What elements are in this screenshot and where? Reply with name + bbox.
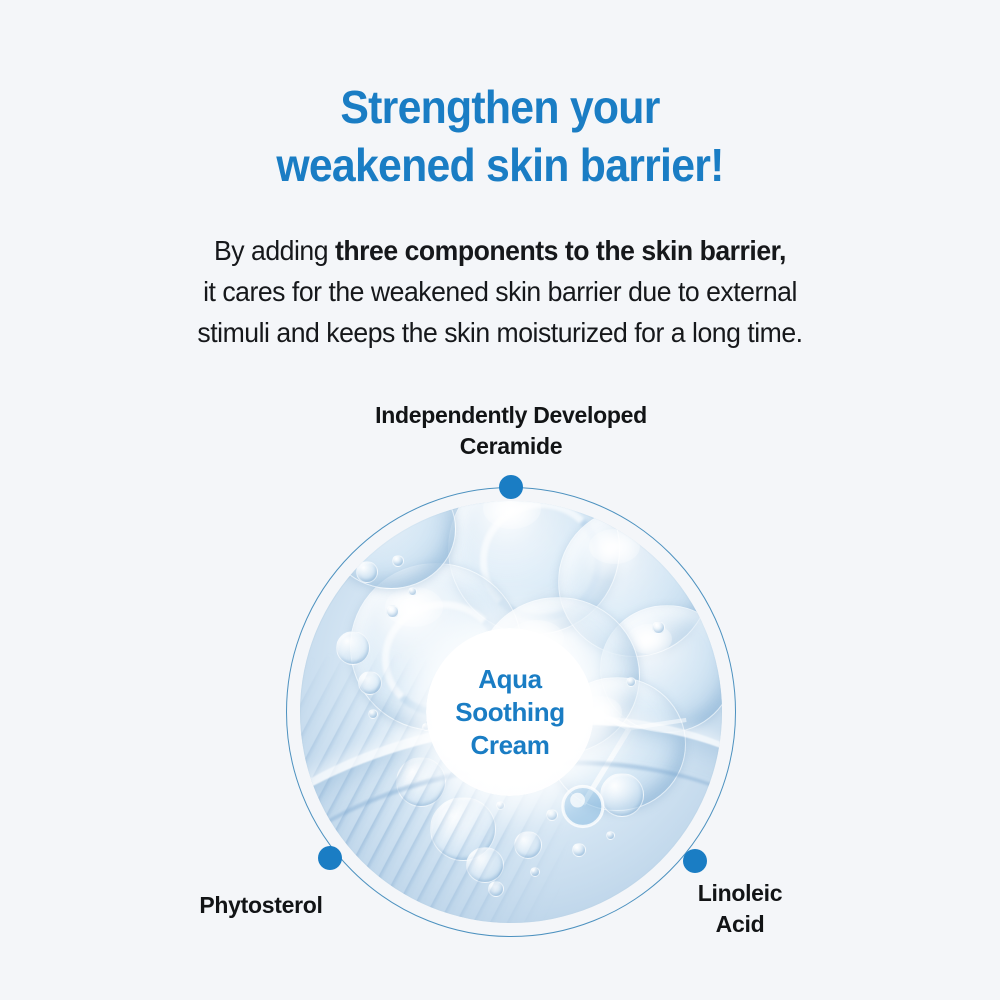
component-label-ceramide: Independently Developed Ceramide	[270, 400, 752, 462]
component-label-phytosterol: Phytosterol	[130, 890, 392, 921]
connector-dot-linoleic	[683, 849, 707, 873]
ingredient-diagram: Aqua Soothing Cream Independently Develo…	[0, 0, 1000, 1000]
promo-graphic: Strengthen your weakened skin barrier! B…	[0, 0, 1000, 1000]
connector-dot-phytosterol	[318, 846, 342, 870]
product-name-line-1: Aqua	[478, 663, 541, 696]
connector-dot-ceramide	[499, 475, 523, 499]
product-name-line-2: Soothing	[455, 696, 564, 729]
component-label-linoleic: Linoleic Acid	[620, 878, 860, 940]
product-name-disc: Aqua Soothing Cream	[426, 628, 594, 796]
product-name-line-3: Cream	[471, 729, 550, 762]
